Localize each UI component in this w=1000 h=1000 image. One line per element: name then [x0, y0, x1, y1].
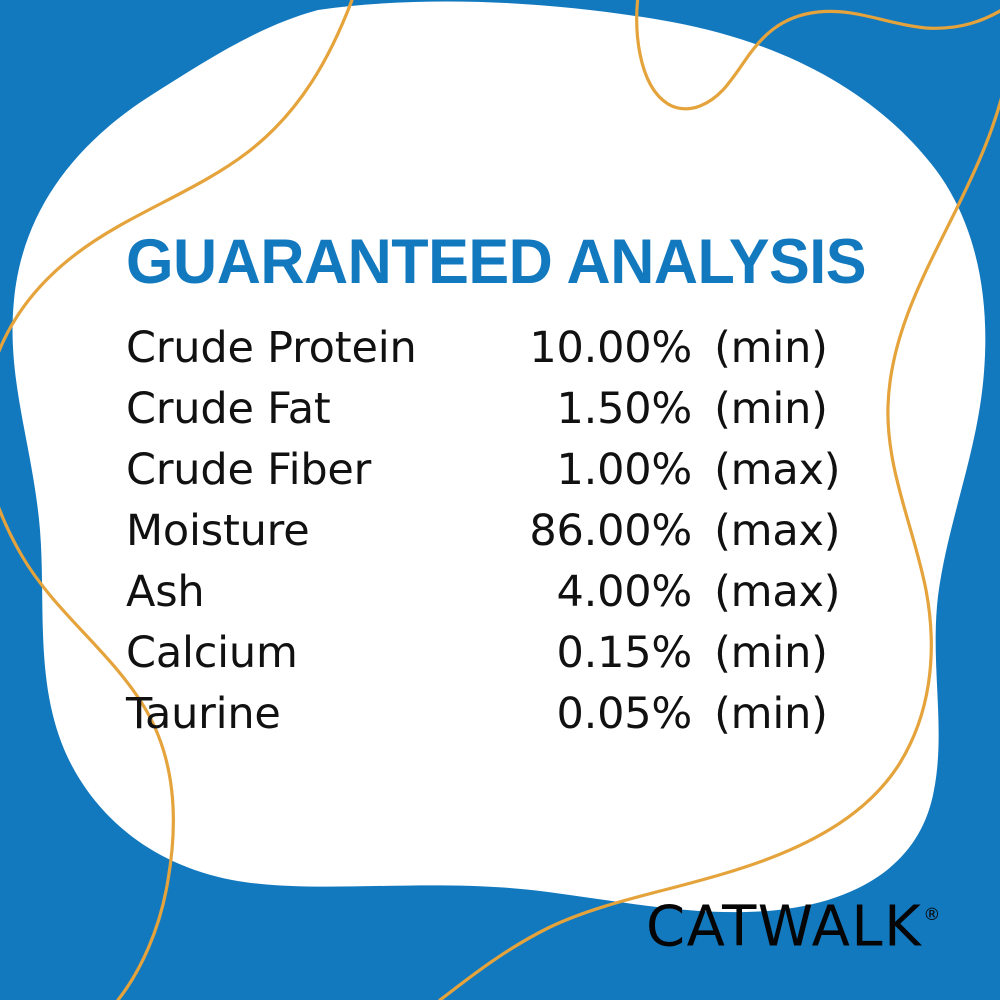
nutrient-name: Ash [126, 562, 501, 623]
page-title: GUARANTEED ANALYSIS [126, 228, 863, 296]
table-row: Calcium 0.15% (min) [126, 623, 874, 684]
table-row: Crude Protein 10.00% (min) [126, 318, 874, 379]
nutrient-name: Moisture [126, 501, 501, 562]
nutrient-name: Crude Fat [126, 379, 501, 440]
table-row: Ash 4.00% (max) [126, 562, 874, 623]
nutrient-qualifier: (min) [714, 318, 874, 379]
nutrient-name: Crude Protein [126, 318, 501, 379]
guaranteed-analysis-table: Crude Protein 10.00% (min) Crude Fat 1.5… [126, 318, 874, 745]
nutrient-qualifier: (min) [714, 684, 874, 745]
nutrient-value: 86.00% [501, 501, 714, 562]
nutrient-value: 0.15% [501, 623, 714, 684]
nutrient-qualifier: (min) [714, 623, 874, 684]
nutrient-value: 10.00% [501, 318, 714, 379]
nutrient-qualifier: (max) [714, 440, 874, 501]
nutrient-name: Crude Fiber [126, 440, 501, 501]
nutrient-qualifier: (max) [714, 562, 874, 623]
table-row: Moisture 86.00% (max) [126, 501, 874, 562]
nutrient-qualifier: (min) [714, 379, 874, 440]
nutrient-qualifier: (max) [714, 501, 874, 562]
nutrient-value: 1.50% [501, 379, 714, 440]
table-row: Crude Fat 1.50% (min) [126, 379, 874, 440]
panel-content: GUARANTEED ANALYSIS Crude Protein 10.00%… [0, 0, 1000, 1000]
label-canvas: GUARANTEED ANALYSIS Crude Protein 10.00%… [0, 0, 1000, 1000]
brand-logo: CATWALK® [646, 893, 939, 956]
registered-trademark-icon: ® [923, 905, 940, 925]
nutrient-name: Calcium [126, 623, 501, 684]
brand-logo-wordmark: CATWALK [646, 895, 922, 960]
nutrient-name: Taurine [126, 684, 501, 745]
table-row: Taurine 0.05% (min) [126, 684, 874, 745]
nutrient-value: 4.00% [501, 562, 714, 623]
nutrient-value: 1.00% [501, 440, 714, 501]
table-row: Crude Fiber 1.00% (max) [126, 440, 874, 501]
analysis-table-body: Crude Protein 10.00% (min) Crude Fat 1.5… [126, 318, 874, 745]
nutrient-value: 0.05% [501, 684, 714, 745]
